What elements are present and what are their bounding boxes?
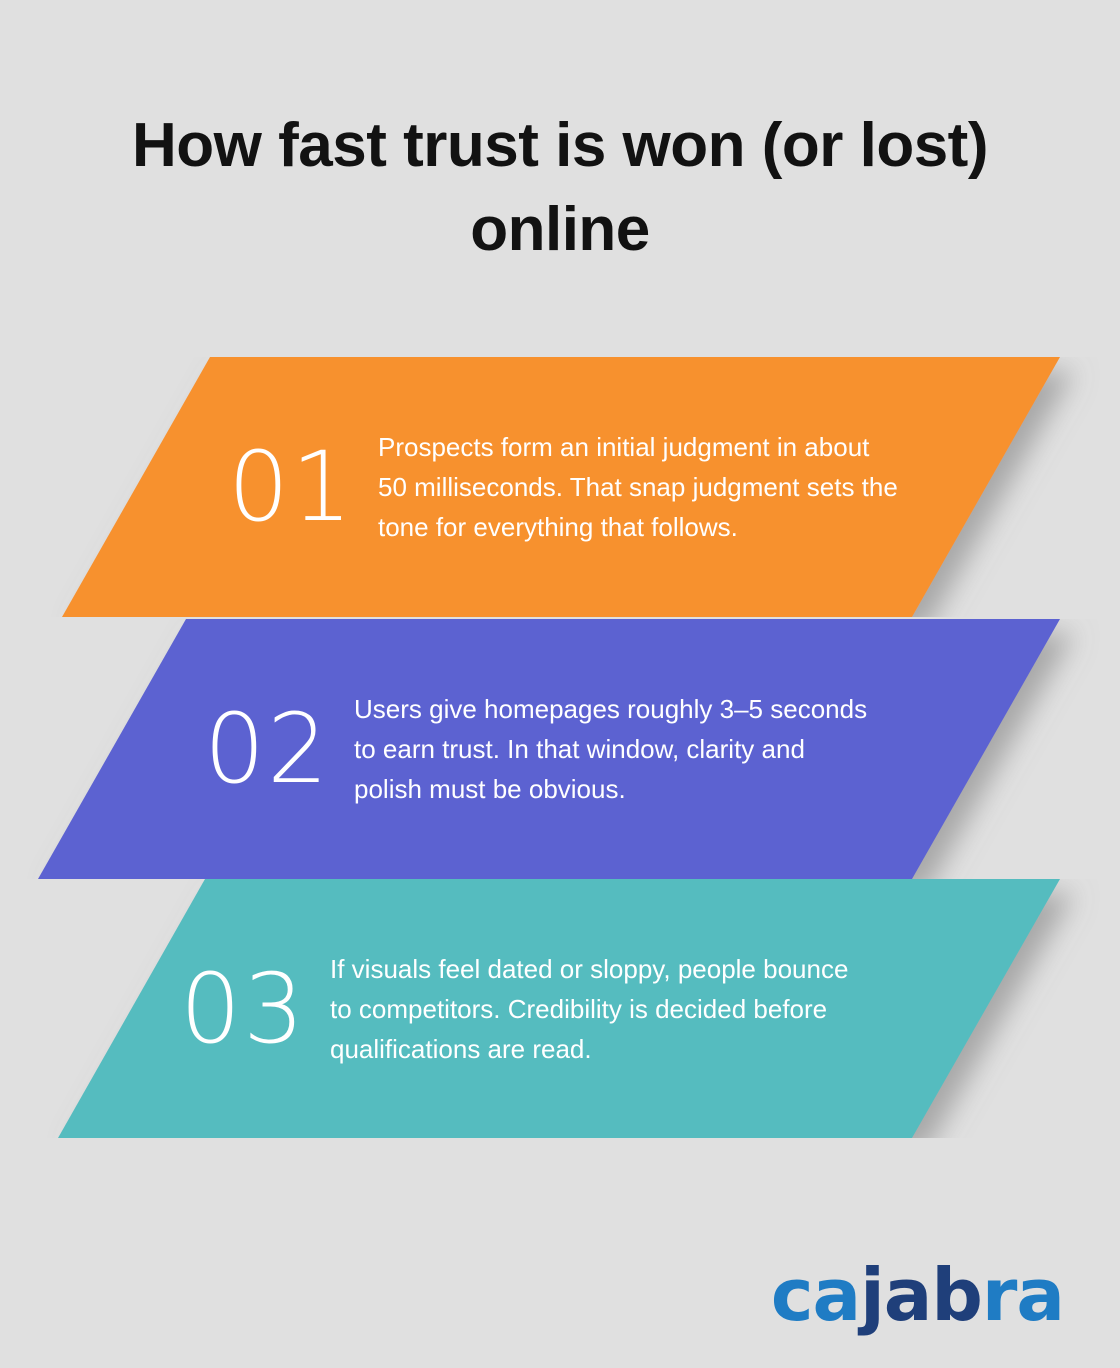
logo-segment-ra: ra — [982, 1253, 1064, 1337]
infographic-canvas: How fast trust is won (or lost) online 0… — [0, 0, 1120, 1368]
brand-logo: cajabra — [771, 1256, 1064, 1334]
band-content-01: 01 Prospects form an initial judgment in… — [228, 357, 903, 617]
band-text-01: Prospects form an initial judgment in ab… — [378, 427, 903, 547]
band-item-01: 01 Prospects form an initial judgment in… — [0, 357, 1120, 617]
band-text-02: Users give homepages roughly 3–5 seconds… — [354, 689, 879, 809]
band-content-03: 03 If visuals feel dated or sloppy, peop… — [180, 879, 855, 1138]
band-number-01: 01 — [228, 439, 378, 535]
band-number-02: 02 — [204, 701, 354, 797]
band-list: 01 Prospects form an initial judgment in… — [0, 0, 1120, 1368]
band-text-03: If visuals feel dated or sloppy, people … — [330, 949, 855, 1069]
band-number-03: 03 — [180, 961, 330, 1057]
band-item-03: 03 If visuals feel dated or sloppy, peop… — [0, 879, 1120, 1138]
band-item-02: 02 Users give homepages roughly 3–5 seco… — [0, 619, 1120, 879]
logo-segment-ca: ca — [771, 1253, 860, 1337]
band-content-02: 02 Users give homepages roughly 3–5 seco… — [204, 619, 879, 879]
logo-segment-jab: jab — [860, 1253, 982, 1337]
